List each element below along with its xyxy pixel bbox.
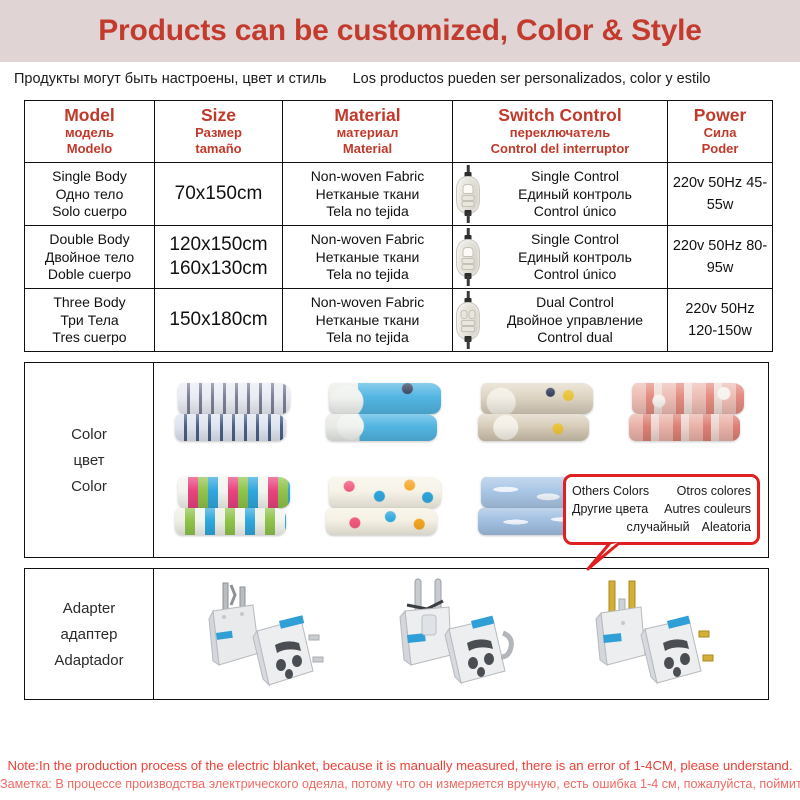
us-universal-socket bbox=[253, 616, 323, 686]
cell-material: Non-woven Fabric Нетканые ткани Tela no … bbox=[283, 289, 453, 352]
single-control-remote-icon bbox=[455, 165, 481, 223]
color-swatch-area: Others Colors Otros colores Другие цвета… bbox=[154, 363, 768, 557]
cell-size: 150x180cm bbox=[155, 289, 283, 352]
callout-pointer-icon bbox=[584, 539, 628, 569]
color-section-label: Color цвет Color bbox=[25, 363, 154, 557]
subtitle-row: Продукты могут быть настроены, цвет и ст… bbox=[0, 62, 800, 96]
us-adapter-body bbox=[209, 605, 259, 665]
cell-switch-control: Dual Control Двойное управление Control … bbox=[453, 289, 668, 352]
color-section: Color цвет Color bbox=[24, 362, 769, 558]
blanket-image-pink-green-plaid bbox=[172, 467, 296, 547]
cell-switch-control: Single Control Единый контроль Control ú… bbox=[453, 163, 668, 226]
note-russian: Заметка: В процессе производства электри… bbox=[0, 775, 800, 793]
blanket-image-pink-floral-stripe bbox=[626, 373, 750, 453]
us-plug-adapter-image bbox=[183, 575, 351, 693]
note-english: Note:In the production process of the el… bbox=[0, 756, 800, 775]
specification-table: Model модель Modelo Size Размер tamaño M… bbox=[24, 100, 773, 352]
single-control-remote-icon bbox=[455, 228, 481, 286]
dual-control-remote-icon bbox=[455, 291, 481, 349]
column-header-power: Power Сила Poder bbox=[668, 101, 773, 163]
callout-line-2: Другие цвета Autres couleurs bbox=[572, 500, 751, 518]
cell-power: 220v 50Hz 45-55w bbox=[668, 163, 773, 226]
others-colors-callout: Others Colors Otros colores Другие цвета… bbox=[563, 474, 760, 545]
adapter-section: Adapter адаптер Adaptador bbox=[24, 568, 769, 700]
callout-line-1: Others Colors Otros colores bbox=[572, 482, 751, 500]
cell-size: 120x150cm 160x130cm bbox=[155, 226, 283, 289]
callout-line-3: случайный Aleatoria bbox=[572, 518, 751, 536]
uk-adapter-body bbox=[596, 607, 645, 665]
uk-plug-adapter-image bbox=[571, 575, 739, 693]
blanket-image-white-flower bbox=[323, 467, 447, 547]
adapter-section-label: Adapter адаптер Adaptador bbox=[25, 569, 154, 699]
subtitle-spanish: Los productos pueden ser personalizados,… bbox=[353, 71, 711, 87]
header-banner: Products can be customized, Color & Styl… bbox=[0, 0, 800, 62]
column-header-switch-control: Switch Control переключатель Control del… bbox=[453, 101, 668, 163]
column-header-material: Material материал Material bbox=[283, 101, 453, 163]
eu-plug-adapter-image bbox=[377, 575, 545, 693]
table-row: Double Body Двойное тело Doble cuerpo 12… bbox=[25, 226, 773, 289]
cell-model: Single Body Одно тело Solo cuerpo bbox=[25, 163, 155, 226]
column-header-size: Size Размер tamaño bbox=[155, 101, 283, 163]
table-row: Three Body Три Тела Tres cuerpo 150x180c… bbox=[25, 289, 773, 352]
blanket-image-blue-grey-plaid bbox=[172, 373, 296, 453]
spec-table-wrap: Model модель Modelo Size Размер tamaño M… bbox=[0, 96, 800, 352]
eu-universal-socket bbox=[445, 616, 511, 683]
bottom-note: Note:In the production process of the el… bbox=[0, 756, 800, 793]
eu-adapter-body bbox=[400, 607, 451, 665]
page-title: Products can be customized, Color & Styl… bbox=[98, 14, 702, 48]
cell-material: Non-woven Fabric Нетканые ткани Tela no … bbox=[283, 163, 453, 226]
cell-switch-control: Single Control Единый контроль Control ú… bbox=[453, 226, 668, 289]
cell-model: Three Body Три Тела Tres cuerpo bbox=[25, 289, 155, 352]
cell-power: 220v 50Hz 80-95w bbox=[668, 226, 773, 289]
blanket-image-beige-sheep bbox=[475, 373, 599, 453]
blanket-image-blue-sheep bbox=[323, 373, 447, 453]
cell-material: Non-woven Fabric Нетканые ткани Tela no … bbox=[283, 226, 453, 289]
column-header-model: Model модель Modelo bbox=[25, 101, 155, 163]
adapter-image-area bbox=[154, 569, 768, 699]
cell-model: Double Body Двойное тело Doble cuerpo bbox=[25, 226, 155, 289]
uk-universal-socket bbox=[641, 616, 713, 683]
table-row: Single Body Одно тело Solo cuerpo 70x150… bbox=[25, 163, 773, 226]
subtitle-russian: Продукты могут быть настроены, цвет и ст… bbox=[14, 71, 327, 87]
table-header-row: Model модель Modelo Size Размер tamaño M… bbox=[25, 101, 773, 163]
adapter-row bbox=[154, 569, 768, 699]
cell-power: 220v 50Hz 120-150w bbox=[668, 289, 773, 352]
cell-size: 70x150cm bbox=[155, 163, 283, 226]
